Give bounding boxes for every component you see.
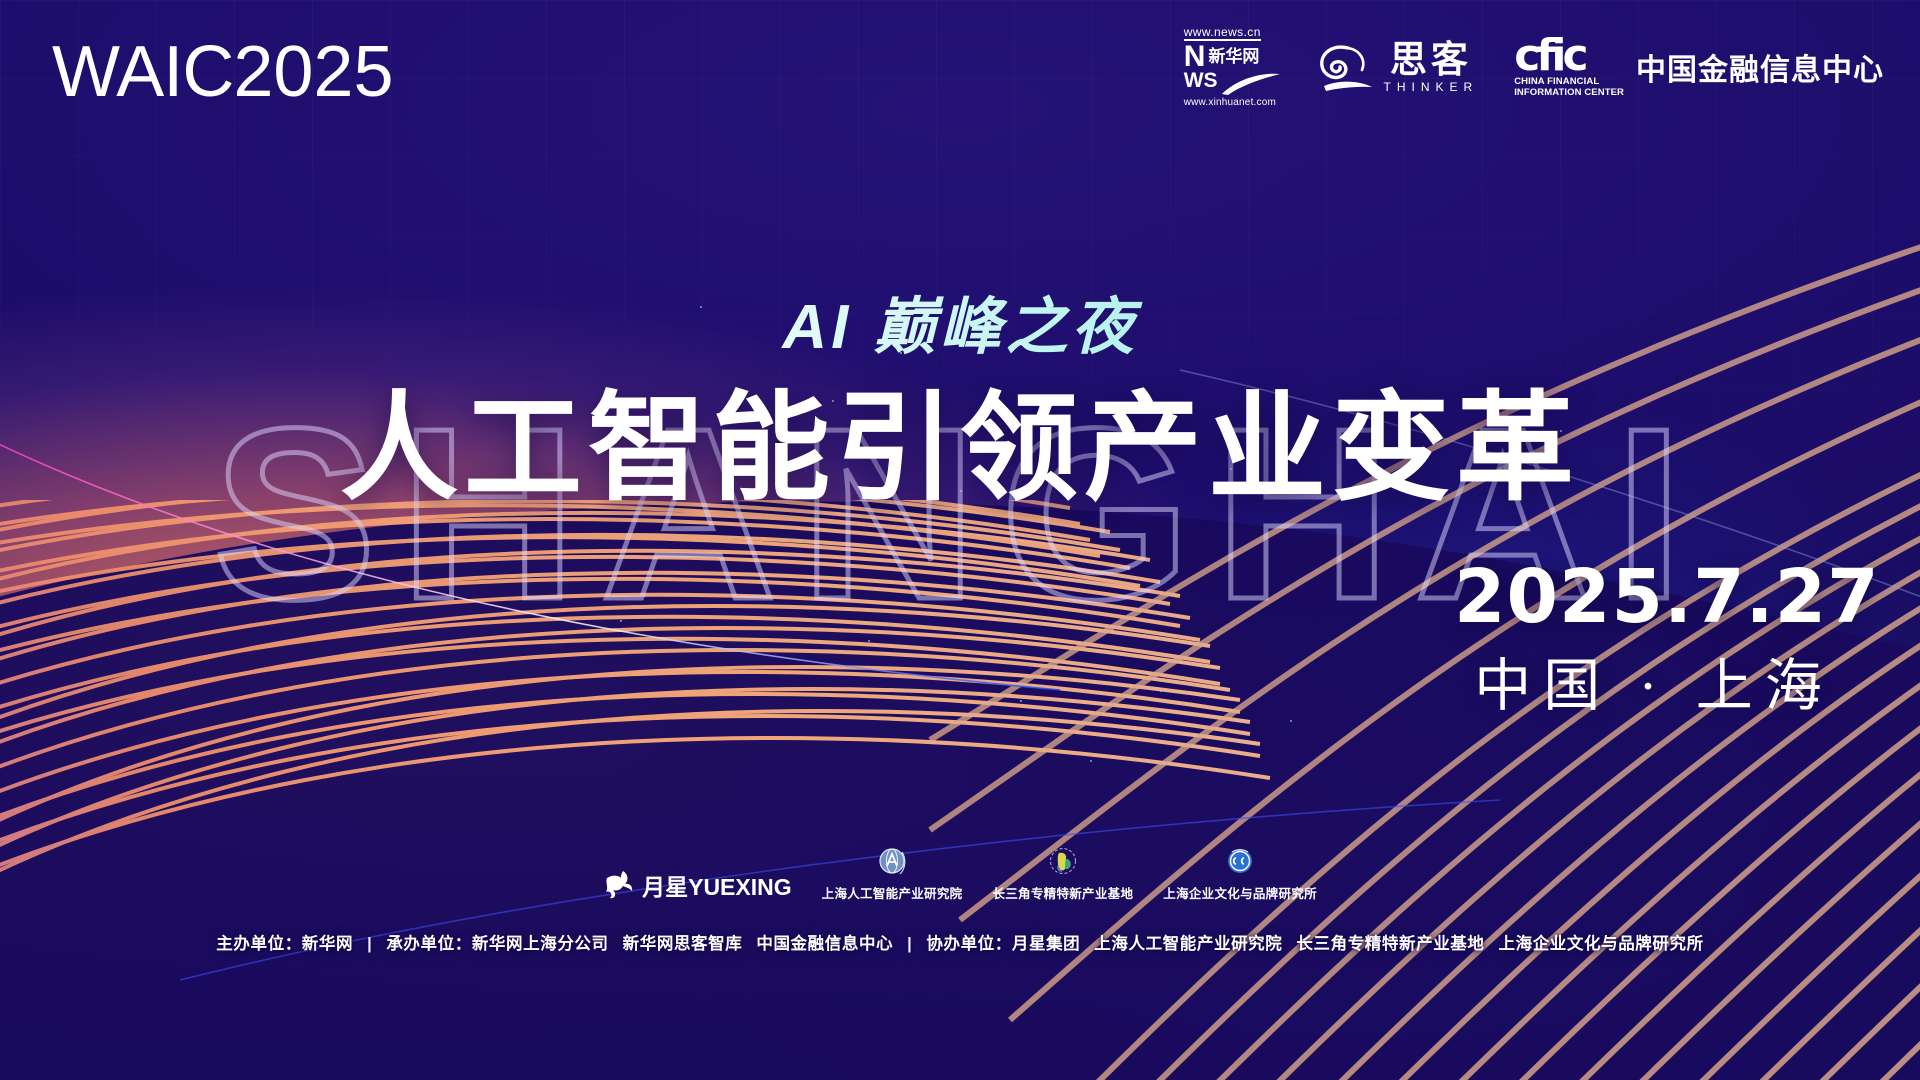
thinker-logo: 思客 THINKER xyxy=(1318,41,1479,93)
credit-organizer-2: 新华网思客智库 xyxy=(623,935,743,953)
xinhua-url-bottom: www.xinhuanet.com xyxy=(1184,98,1276,108)
poster-canvas: SHANGHAI WAIC2025 www.news.cn N 新华网 WS w… xyxy=(0,0,1920,1080)
xinhua-cn-name: 新华网 xyxy=(1208,48,1259,65)
thinker-en-name: THINKER xyxy=(1384,81,1479,93)
hero-headline: 人工智能引领产业变革 xyxy=(0,352,1920,523)
credit-organizer-3: 中国金融信息中心 xyxy=(756,935,893,953)
event-date-block: 2025.7.27 中国 · 上海 xyxy=(1454,560,1854,715)
credit-separator-1: | xyxy=(353,935,386,953)
credit-host: 主办单位：新华网 xyxy=(216,935,353,953)
partner-logo-row: 月星YUEXING 上海人工智能产业研究院 长三角专精特新产业基地 xyxy=(0,846,1920,902)
cfic-logo-mark: cfic xyxy=(1514,36,1624,76)
xinhua-news-logo: www.news.cn N 新华网 WS www.xinhuanet.com xyxy=(1184,26,1282,108)
xinhua-letter-n: N xyxy=(1184,43,1206,70)
cfic-en-line1: CHINA FINANCIAL xyxy=(1514,76,1624,87)
yangtze-delta-map-icon xyxy=(1046,846,1080,880)
event-location: 中国 · 上海 xyxy=(1454,658,1854,715)
partner-shanghai-ai-institute: 上海人工智能产业研究院 xyxy=(822,846,963,902)
cfic-logo: cfic CHINA FINANCIAL INFORMATION CENTER … xyxy=(1514,36,1884,98)
event-date: 2025.7.27 xyxy=(1454,560,1854,634)
cfic-en-line2: INFORMATION CENTER xyxy=(1514,87,1624,98)
xinhua-url-top: www.news.cn xyxy=(1184,26,1261,41)
waic-logo-mark: WAIC xyxy=(52,32,233,112)
credit-coorganizer: 协办单位：月星集团 xyxy=(926,935,1080,953)
xinhua-swoosh-icon xyxy=(1220,70,1282,96)
waic-logo-year: 2025 xyxy=(233,32,393,112)
credit-coorganizer-2: 上海人工智能产业研究院 xyxy=(1094,935,1282,953)
globe-ai-icon xyxy=(875,846,909,880)
credit-coorganizer-4: 上海企业文化与品牌研究所 xyxy=(1499,935,1704,953)
cfic-cn-name: 中国金融信息中心 xyxy=(1636,45,1884,89)
yuexing-star-icon xyxy=(603,868,637,902)
yuexing-label: 月星YUEXING xyxy=(642,868,792,902)
partner-label: 上海人工智能产业研究院 xyxy=(822,883,963,902)
thinker-cn-name: 思客 xyxy=(1390,41,1472,78)
partner-yangtze-delta-base: 长三角专精特新产业基地 xyxy=(992,846,1133,902)
waic-logo: WAIC2025 xyxy=(52,36,393,108)
partner-label: 上海企业文化与品牌研究所 xyxy=(1163,883,1317,902)
partner-label: 长三角专精特新产业基地 xyxy=(992,883,1133,902)
star-specks xyxy=(0,0,1920,1080)
credit-coorganizer-3: 长三角专精特新产业基地 xyxy=(1296,935,1484,953)
top-sponsor-logos: www.news.cn N 新华网 WS www.xinhuanet.com 思… xyxy=(1184,26,1884,108)
partner-yuexing: 月星YUEXING xyxy=(603,868,792,902)
credits-line: 主办单位：新华网|承办单位：新华网上海分公司新华网思客智库中国金融信息中心|协办… xyxy=(0,930,1920,954)
credit-organizer: 承办单位：新华网上海分公司 xyxy=(386,935,608,953)
partner-shanghai-brand-institute: 上海企业文化与品牌研究所 xyxy=(1163,846,1317,902)
xinhua-letters-ws: WS xyxy=(1184,72,1218,91)
thinker-brush-icon xyxy=(1318,42,1374,92)
credit-separator-2: | xyxy=(893,935,926,953)
brand-institute-seal-icon xyxy=(1223,846,1257,880)
